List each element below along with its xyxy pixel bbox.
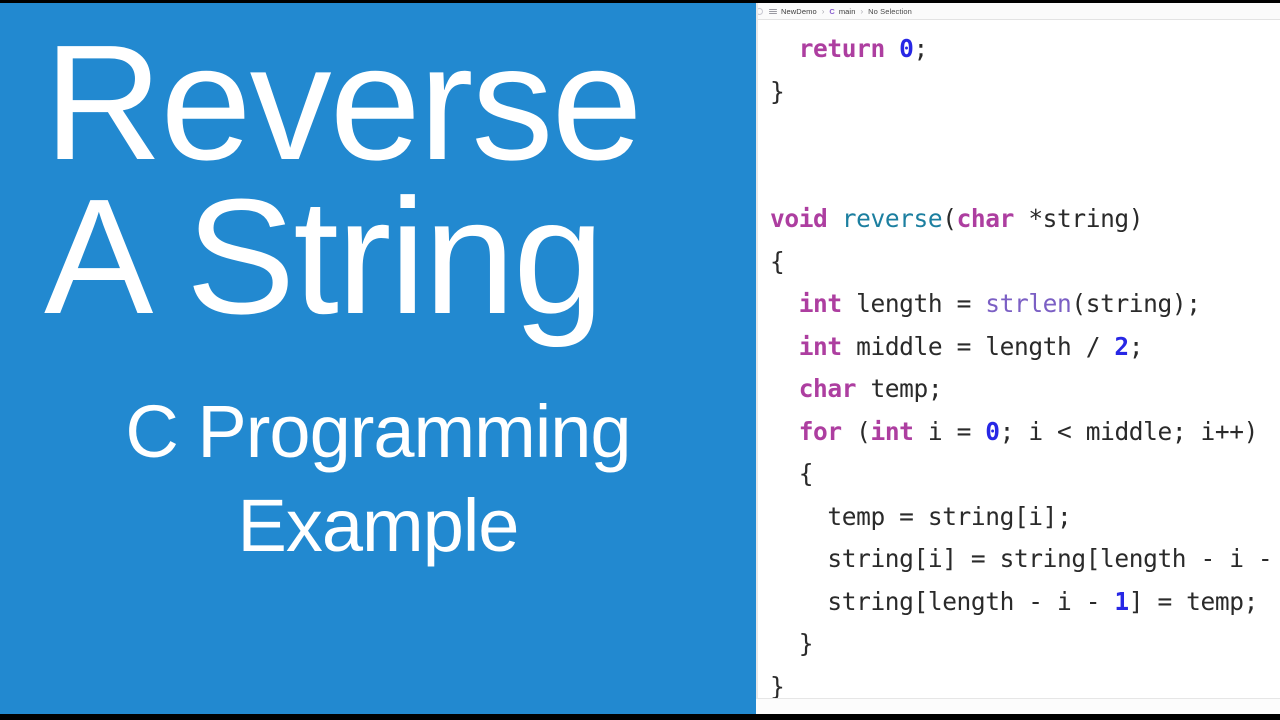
code-line: for (int i = 0; i < middle; i++) [770,411,1280,454]
code-token-keyword: return [799,34,885,63]
title-heading-block: Reverse A String [0,0,756,339]
code-line: int length = strlen(string); [770,283,1280,326]
title-subtitle-line-2: Example [20,479,736,574]
code-token-plain [885,34,899,63]
code-token-plain: (string); [1071,289,1200,318]
code-token-keyword: for [799,417,842,446]
code-token-keyword: int [870,417,913,446]
code-line: char temp; [770,368,1280,411]
project-file-icon[interactable] [769,8,777,15]
code-token-keyword: void [770,204,827,233]
letterbox-top [0,0,1280,3]
code-token-plain: length = [842,289,986,318]
code-token-plain: ; [914,34,928,63]
code-line [770,156,1280,199]
code-scroll-area[interactable]: return 0;}void reverse(char *string){ in… [756,20,1280,700]
code-content[interactable]: return 0;}void reverse(char *string){ in… [770,28,1280,700]
code-line [770,113,1280,156]
code-token-plain: ] = temp; [1129,587,1258,616]
code-token-plain: } [770,629,813,658]
breadcrumb: NewDemo › C main › No Selection [756,3,1280,20]
code-token-keyword: char [957,204,1014,233]
code-line: { [770,453,1280,496]
code-token-call: strlen [985,289,1071,318]
code-token-plain [770,34,799,63]
code-token-plain: middle = length / [842,332,1115,361]
title-heading-line-2: A String [44,176,756,338]
title-subtitle-block: C Programming Example [0,385,756,574]
breadcrumb-separator-1: › [822,7,825,16]
code-token-keyword: int [799,332,842,361]
editor-left-border [756,0,758,720]
breadcrumb-selection-status[interactable]: No Selection [868,7,912,16]
code-line: void reverse(char *string) [770,198,1280,241]
code-line: return 0; [770,28,1280,71]
breadcrumb-project-name[interactable]: NewDemo [781,7,817,16]
code-token-plain: temp; [856,374,942,403]
code-token-keyword: char [799,374,856,403]
title-subtitle-line-1: C Programming [20,385,736,480]
code-token-plain: } [770,77,784,106]
code-token-function: reverse [842,204,942,233]
title-card: Reverse A String C Programming Example [0,0,756,720]
code-token-plain: ( [942,204,956,233]
breadcrumb-symbol-name[interactable]: main [839,7,856,16]
code-token-keyword: int [799,289,842,318]
code-token-plain: i = [914,417,986,446]
c-symbol-icon: C [829,7,834,16]
code-line: } [770,623,1280,666]
code-token-plain [770,374,799,403]
screen-root: Reverse A String C Programming Example N… [0,0,1280,720]
breadcrumb-separator-2: › [860,7,863,16]
code-token-plain [770,289,799,318]
code-token-plain: string[i] = string[length - i - [770,544,1280,573]
code-token-plain: ( [842,417,871,446]
code-line: { [770,241,1280,284]
code-line: string[i] = string[length - i - 1]; [770,538,1280,581]
code-line: } [770,666,1280,701]
title-heading-line-1: Reverse [44,22,756,184]
code-token-plain: { [770,459,813,488]
code-editor-panel: NewDemo › C main › No Selection return 0… [756,0,1280,720]
code-token-plain: string[length - i - [770,587,1114,616]
code-token-number: 1 [1114,587,1128,616]
code-token-plain: { [770,247,784,276]
code-token-plain [770,417,799,446]
code-line: string[length - i - 1] = temp; [770,581,1280,624]
code-token-number: 0 [899,34,913,63]
code-token-plain: ; i < middle; i++) [1000,417,1258,446]
code-token-plain: } [770,672,784,701]
code-token-number: 2 [1114,332,1128,361]
code-token-plain [827,204,841,233]
code-line: temp = string[i]; [770,496,1280,539]
editor-footer-bar [756,699,1280,714]
code-token-plain: *string) [1014,204,1143,233]
code-token-number: 0 [985,417,999,446]
code-token-plain: ; [1129,332,1143,361]
code-line: int middle = length / 2; [770,326,1280,369]
code-line: } [770,71,1280,114]
code-token-plain [770,332,799,361]
letterbox-bottom [0,714,1280,720]
code-token-plain: temp = string[i]; [770,502,1071,531]
